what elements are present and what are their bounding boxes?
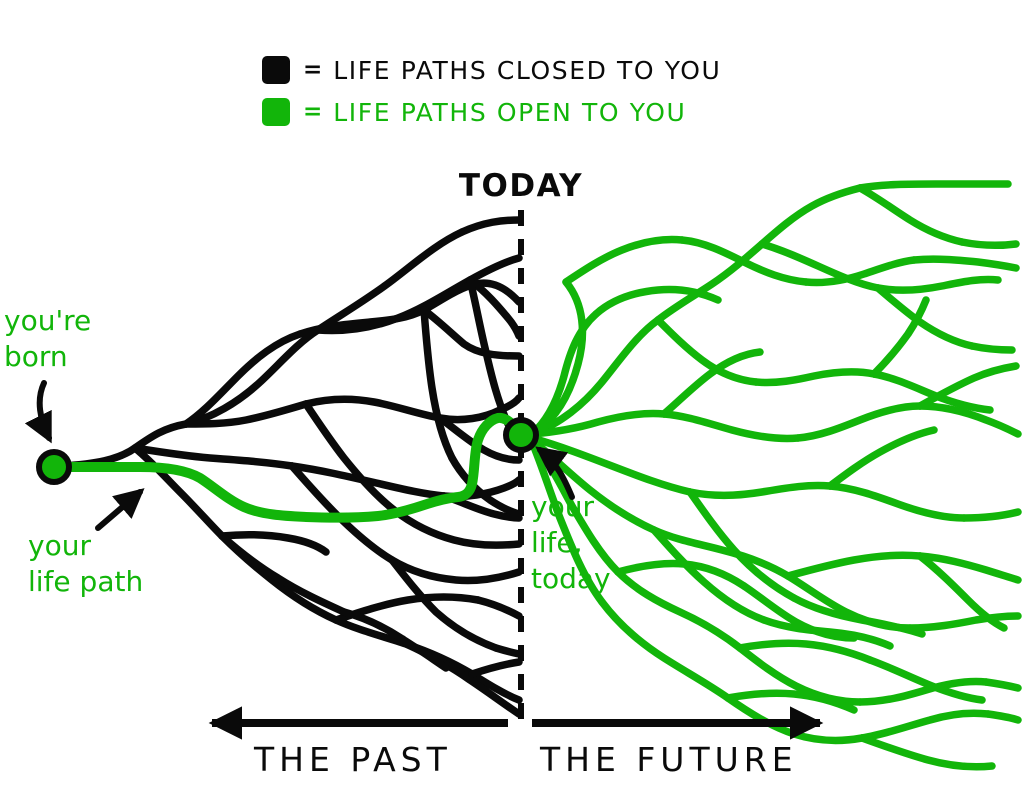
legend-equals-sign: = bbox=[303, 101, 322, 124]
legend: = LIFE PATHS CLOSED TO YOU = LIFE PATHS … bbox=[262, 52, 802, 136]
life-path-annotation-arrow bbox=[98, 492, 140, 528]
past-path bbox=[62, 424, 186, 466]
past-path bbox=[472, 662, 519, 674]
past-path bbox=[318, 232, 462, 330]
legend-label-open: LIFE PATHS OPEN TO YOU bbox=[333, 100, 686, 125]
birth-node bbox=[39, 452, 69, 482]
diagram-canvas: = LIFE PATHS CLOSED TO YOU = LIFE PATHS … bbox=[0, 0, 1024, 810]
today-annotation: your life, today bbox=[531, 489, 611, 596]
future-path bbox=[920, 366, 1016, 406]
legend-equals-sign: = bbox=[303, 59, 322, 82]
past-path bbox=[478, 600, 519, 616]
green-square-icon bbox=[262, 98, 290, 126]
future-path bbox=[756, 372, 874, 383]
future-path bbox=[690, 485, 830, 495]
black-square-icon bbox=[262, 56, 290, 84]
past-path bbox=[392, 560, 519, 581]
legend-label-closed: LIFE PATHS CLOSED TO YOU bbox=[333, 58, 721, 83]
future-path bbox=[788, 555, 920, 576]
future-path bbox=[986, 682, 1018, 688]
born-annotation-arrow bbox=[40, 383, 49, 438]
life-path-annotation: your life path bbox=[28, 528, 143, 600]
future-path bbox=[862, 713, 988, 738]
future-path bbox=[618, 563, 744, 586]
born-annotation: you're born bbox=[4, 303, 91, 375]
future-path bbox=[962, 242, 1016, 245]
today-label: TODAY bbox=[459, 168, 583, 204]
today-node bbox=[506, 420, 536, 450]
past-path bbox=[306, 399, 440, 418]
future-path bbox=[964, 512, 1018, 518]
future-path bbox=[878, 279, 998, 290]
future-path bbox=[830, 486, 964, 518]
past-axis-label: THE PAST bbox=[254, 740, 452, 779]
future-path bbox=[664, 414, 798, 439]
future-path bbox=[798, 406, 920, 438]
future-path bbox=[762, 188, 860, 244]
future-axis-label: THE FUTURE bbox=[540, 740, 798, 779]
future-path bbox=[914, 259, 1016, 268]
past-path bbox=[462, 220, 519, 232]
future-path bbox=[830, 430, 934, 486]
future-path bbox=[658, 244, 762, 320]
future-path bbox=[682, 240, 806, 282]
future-path bbox=[972, 346, 1012, 350]
future-path bbox=[566, 239, 682, 282]
future-path bbox=[602, 602, 728, 698]
future-paths-group bbox=[532, 184, 1018, 767]
past-path bbox=[470, 258, 519, 280]
future-path bbox=[740, 643, 870, 660]
future-path bbox=[596, 289, 718, 314]
legend-row-open: = LIFE PATHS OPEN TO YOU bbox=[262, 94, 802, 130]
future-path bbox=[860, 188, 962, 242]
future-path bbox=[988, 714, 1018, 720]
legend-row-closed: = LIFE PATHS CLOSED TO YOU bbox=[262, 52, 802, 88]
past-path bbox=[496, 648, 519, 654]
future-path bbox=[862, 738, 992, 767]
future-path bbox=[860, 184, 1008, 188]
